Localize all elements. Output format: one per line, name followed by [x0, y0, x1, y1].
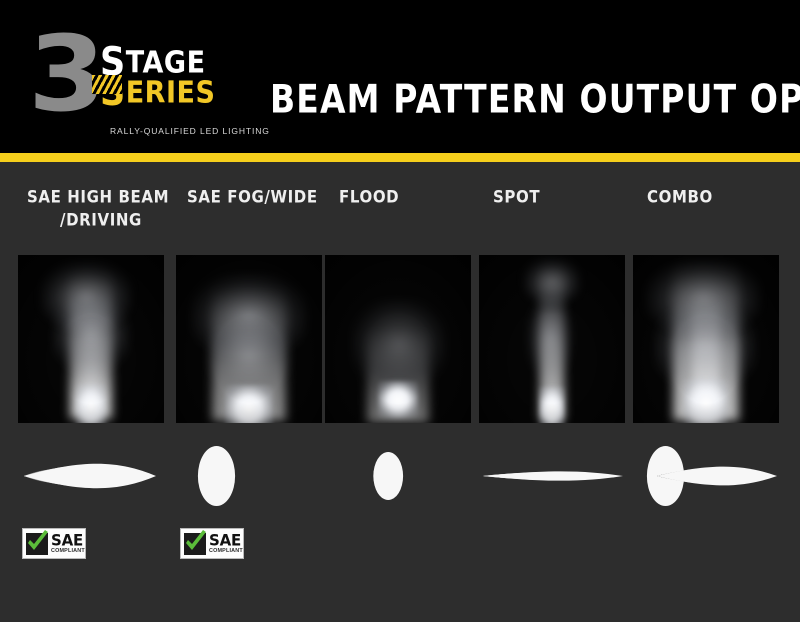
check-icon [184, 533, 206, 555]
page-title-text: BEAM PATTERN OUTPUT OPTIONS [270, 79, 800, 120]
sae-badge-main: SAE [51, 533, 85, 549]
logo-tagline: RALLY-QUALIFIED LED LIGHTING [110, 127, 270, 136]
label-line-1: FLOOD [339, 186, 509, 209]
beam-pattern-infographic: 3 STAGE SERIES RALLY-QUALIFIED LED LIGHT… [0, 0, 800, 622]
header-bar: 3 STAGE SERIES RALLY-QUALIFIED LED LIGHT… [0, 0, 800, 153]
accent-divider [0, 153, 800, 162]
logo-stripes-icon [92, 75, 122, 94]
logo-series-rest: ERIES [126, 76, 216, 111]
beam-column-label-driving: SAE HIGH BEAM/DRIVING [27, 186, 197, 232]
beam-photo-driving [18, 255, 164, 423]
check-icon [26, 533, 48, 555]
beam-column-label-combo: COMBO [647, 186, 800, 209]
beam-photo-flood [325, 255, 471, 423]
beam-diagram-combo [633, 440, 779, 512]
beam-diagram-spot [479, 440, 625, 512]
sae-badge-text: SAECOMPLIANT [209, 533, 243, 554]
page-title: BEAM PATTERN OUTPUT OPTIONS [270, 77, 782, 123]
label-line-1: SAE HIGH BEAM [27, 186, 197, 209]
label-line-1: COMBO [647, 186, 800, 209]
beam-photo-fog [176, 255, 322, 423]
beam-diagram-flood [325, 440, 471, 512]
beam-column-label-spot: SPOT [493, 186, 663, 209]
beam-photo-spot [479, 255, 625, 423]
logo-numeral-3: 3 [28, 22, 102, 126]
beam-diagram-driving [18, 440, 164, 512]
sae-compliant-badge: SAECOMPLIANT [180, 528, 244, 559]
label-line-2: /DRIVING [27, 209, 175, 232]
beam-diagram-fog [176, 440, 322, 512]
label-line-1: SPOT [493, 186, 663, 209]
brand-logo: 3 STAGE SERIES RALLY-QUALIFIED LED LIGHT… [22, 22, 252, 134]
sae-badge-main: SAE [209, 533, 243, 549]
sae-compliant-badge: SAECOMPLIANT [22, 528, 86, 559]
beam-photo-combo [633, 255, 779, 423]
beam-column-label-fog: SAE FOG/WIDE [187, 186, 357, 209]
logo-wordmark: STAGE SERIES [100, 48, 260, 130]
content-area: SAE HIGH BEAM/DRIVINGSAECOMPLIANTSAE FOG… [0, 162, 800, 622]
beam-column-label-flood: FLOOD [339, 186, 509, 209]
label-line-1: SAE FOG/WIDE [187, 186, 357, 209]
sae-badge-text: SAECOMPLIANT [51, 533, 85, 554]
